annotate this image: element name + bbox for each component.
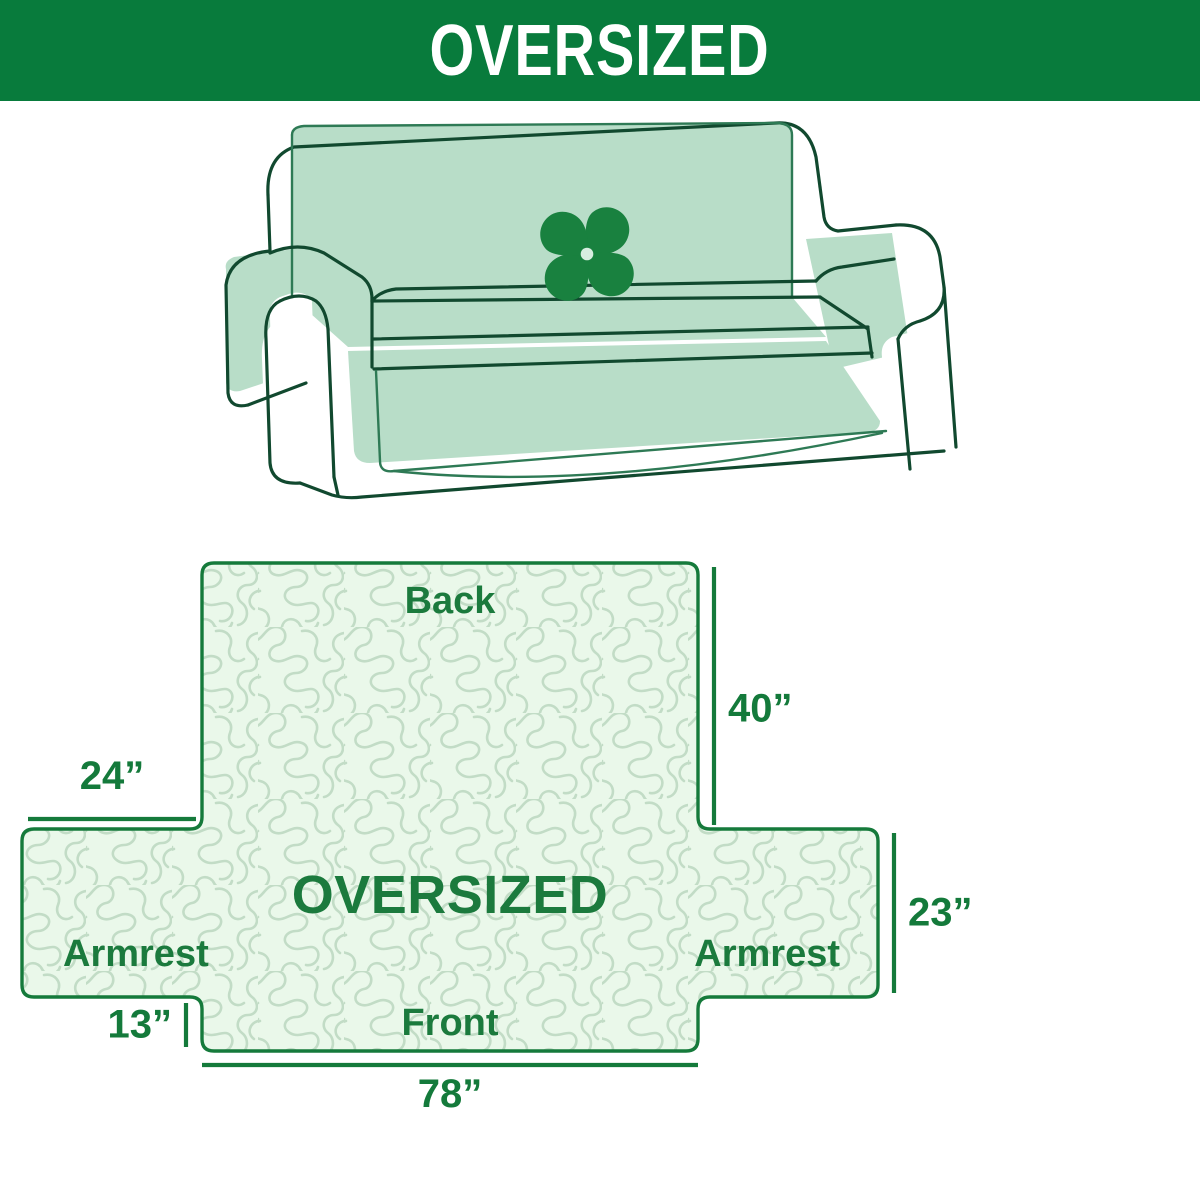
- dimension-value-24: 24”: [80, 754, 145, 798]
- page-root: OVERSIZED .ln{fill:none;stroke:#11492F;s…: [0, 0, 1200, 1200]
- dimension-total-width: 78”: [202, 1065, 698, 1116]
- dimension-value-78: 78”: [418, 1072, 483, 1116]
- page-title: OVERSIZED: [430, 15, 770, 87]
- dimension-armrest-height: 23”: [894, 833, 973, 993]
- panel-label-armrest-right: Armrest: [694, 933, 840, 975]
- sofa-illustration: .ln{fill:none;stroke:#11492F;stroke-widt…: [0, 101, 1200, 541]
- dimension-back-height: 40”: [714, 567, 793, 825]
- dimension-back-offset: 24”: [28, 754, 196, 819]
- sofa-drawing-svg: .ln{fill:none;stroke:#11492F;stroke-widt…: [220, 101, 980, 501]
- dimension-front-offset: 13”: [108, 1003, 187, 1047]
- panel-label-back: Back: [405, 580, 497, 622]
- dimension-value-40: 40”: [728, 687, 793, 731]
- cover-layout-diagram: .panel{fill:url(#quilt);stroke:#157A3B;s…: [0, 541, 1200, 1200]
- dimension-value-23: 23”: [908, 891, 973, 935]
- header-banner: OVERSIZED: [0, 0, 1200, 101]
- panel-label-armrest-left: Armrest: [63, 933, 209, 975]
- dimension-value-13: 13”: [108, 1003, 173, 1047]
- slipcover-panel-shape: [22, 563, 878, 1051]
- panel-label-front: Front: [401, 1002, 498, 1044]
- panel-label-center: OVERSIZED: [292, 865, 609, 925]
- cover-layout-svg: .panel{fill:url(#quilt);stroke:#157A3B;s…: [0, 541, 1200, 1200]
